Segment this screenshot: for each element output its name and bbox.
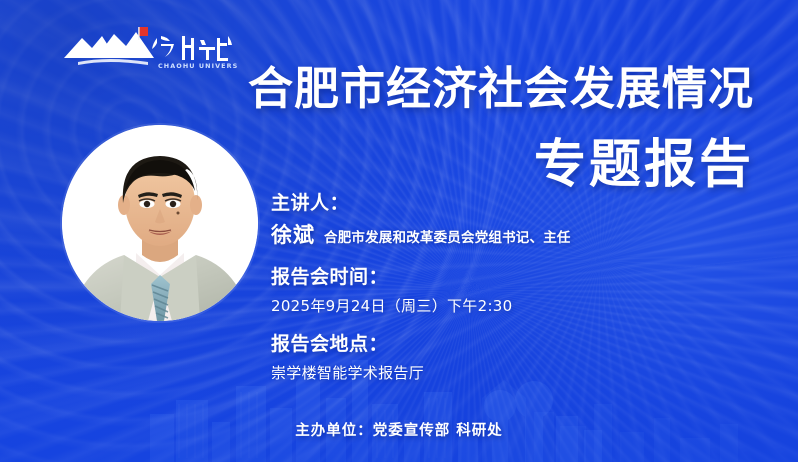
svg-text:CHAOHU UNIVERSITY: CHAOHU UNIVERSITY — [158, 62, 237, 70]
speaker-position: 合肥市发展和改革委员会党组书记、主任 — [324, 226, 571, 246]
speaker-label: 主讲人： — [271, 190, 771, 217]
logo: CHAOHU UNIVERSITY — [62, 24, 237, 74]
poster-title-line-2: 专题报告 — [534, 133, 754, 197]
venue-value: 崇学楼智能学术报告厅 — [271, 361, 771, 385]
speaker-portrait — [62, 125, 258, 321]
lecture-poster: CHAOHU UNIVERSITY — [0, 0, 798, 462]
speaker-row: 徐斌 合肥市发展和改革委员会党组书记、主任 — [271, 219, 771, 249]
organizer-footer: 主办单位：党委宣传部 科研处 — [0, 419, 798, 440]
speaker-photo — [62, 125, 258, 321]
poster-title-line-1: 合肥市经济社会发展情况 — [248, 61, 754, 117]
mountain-peaks-icon: CHAOHU UNIVERSITY — [62, 24, 237, 74]
details-block: 主讲人： 徐斌 合肥市发展和改革委员会党组书记、主任 报告会时间： 2025年9… — [271, 190, 771, 385]
time-value: 2025年9月24日（周三）下午2:30 — [271, 294, 771, 318]
speaker-name: 徐斌 — [271, 219, 315, 249]
time-label: 报告会时间： — [271, 264, 771, 291]
venue-label: 报告会地点： — [271, 331, 771, 358]
